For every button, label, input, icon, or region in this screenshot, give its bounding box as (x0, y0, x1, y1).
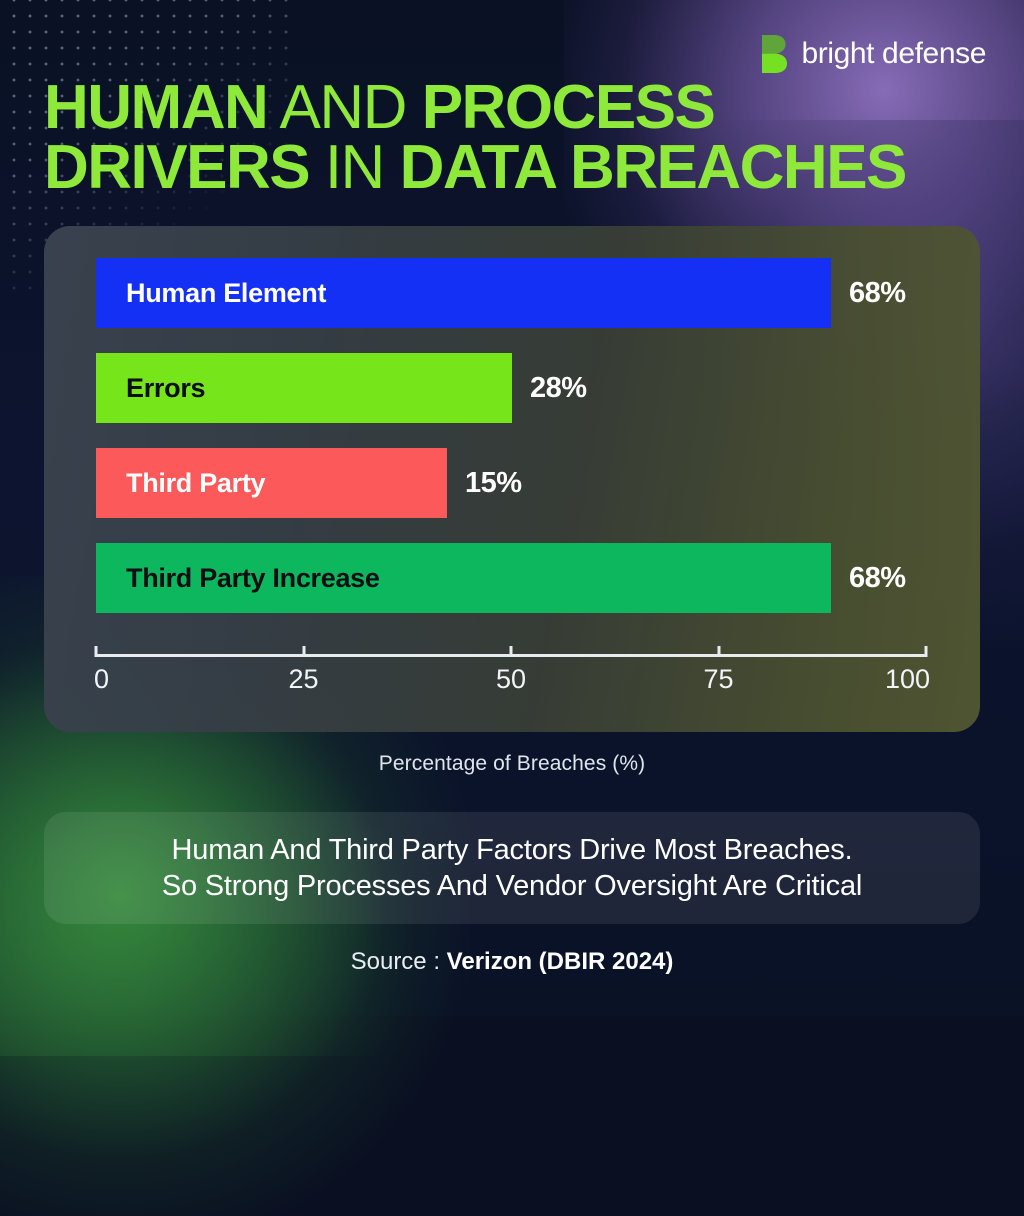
x-axis-caption: Percentage of Breaches (%) (0, 752, 1024, 776)
title-word-in: IN (309, 133, 399, 202)
x-axis-tick-label: 50 (496, 664, 526, 695)
x-axis-tick-label: 0 (94, 664, 109, 695)
page-title: HUMAN AND PROCESS DRIVERS IN DATA BREACH… (44, 78, 864, 197)
insight-line-1: Human And Third Party Factors Drive Most… (172, 834, 853, 867)
brand-name: bright defense (801, 39, 986, 69)
x-axis-tick (95, 646, 98, 657)
bar-label: Third Party Increase (96, 563, 380, 594)
bar-label: Errors (96, 373, 205, 404)
insight-line-2: So Strong Processes And Vendor Oversight… (162, 870, 862, 903)
x-axis-tick-label: 25 (288, 664, 318, 695)
title-word-drivers: DRIVERS (44, 133, 309, 202)
x-axis-tick-label: 100 (885, 664, 930, 695)
bar-row: Human Element 68% (96, 258, 980, 328)
chart-card: Human Element 68% Errors 28% Third Party… (44, 226, 980, 732)
x-axis-tick (925, 646, 928, 657)
bar-label: Third Party (96, 468, 265, 499)
brand-logo[interactable]: bright defense (761, 34, 986, 74)
bar-chart: Human Element 68% Errors 28% Third Party… (96, 258, 980, 638)
x-axis: 0255075100 (96, 646, 926, 716)
source-value: Verizon (DBIR 2024) (447, 948, 674, 975)
bar-third-party: Third Party (96, 448, 447, 518)
bar-row: Third Party Increase 68% (96, 543, 980, 613)
bar-errors: Errors (96, 353, 512, 423)
x-axis-tick (510, 646, 513, 657)
bar-third-party-increase: Third Party Increase (96, 543, 831, 613)
bar-value: 15% (465, 448, 522, 518)
source-prefix: Source : (351, 948, 447, 975)
bar-value: 68% (849, 258, 906, 328)
x-axis-tick (717, 646, 720, 657)
bar-row: Errors 28% (96, 353, 980, 423)
title-line-2: DRIVERS IN DATA BREACHES (44, 138, 864, 198)
bar-human-element: Human Element (96, 258, 831, 328)
x-axis-tick (302, 646, 305, 657)
bar-label: Human Element (96, 278, 326, 309)
source-attribution: Source : Verizon (DBIR 2024) (0, 948, 1024, 976)
x-axis-tick-label: 75 (703, 664, 733, 695)
bar-row: Third Party 15% (96, 448, 980, 518)
title-word-data-breaches: DATA BREACHES (400, 133, 906, 202)
bar-value: 68% (849, 543, 906, 613)
title-line-1: HUMAN AND PROCESS (44, 78, 864, 138)
bar-value: 28% (530, 353, 587, 423)
bright-defense-logo-mark-icon (761, 34, 788, 74)
insight-box: Human And Third Party Factors Drive Most… (44, 812, 980, 924)
